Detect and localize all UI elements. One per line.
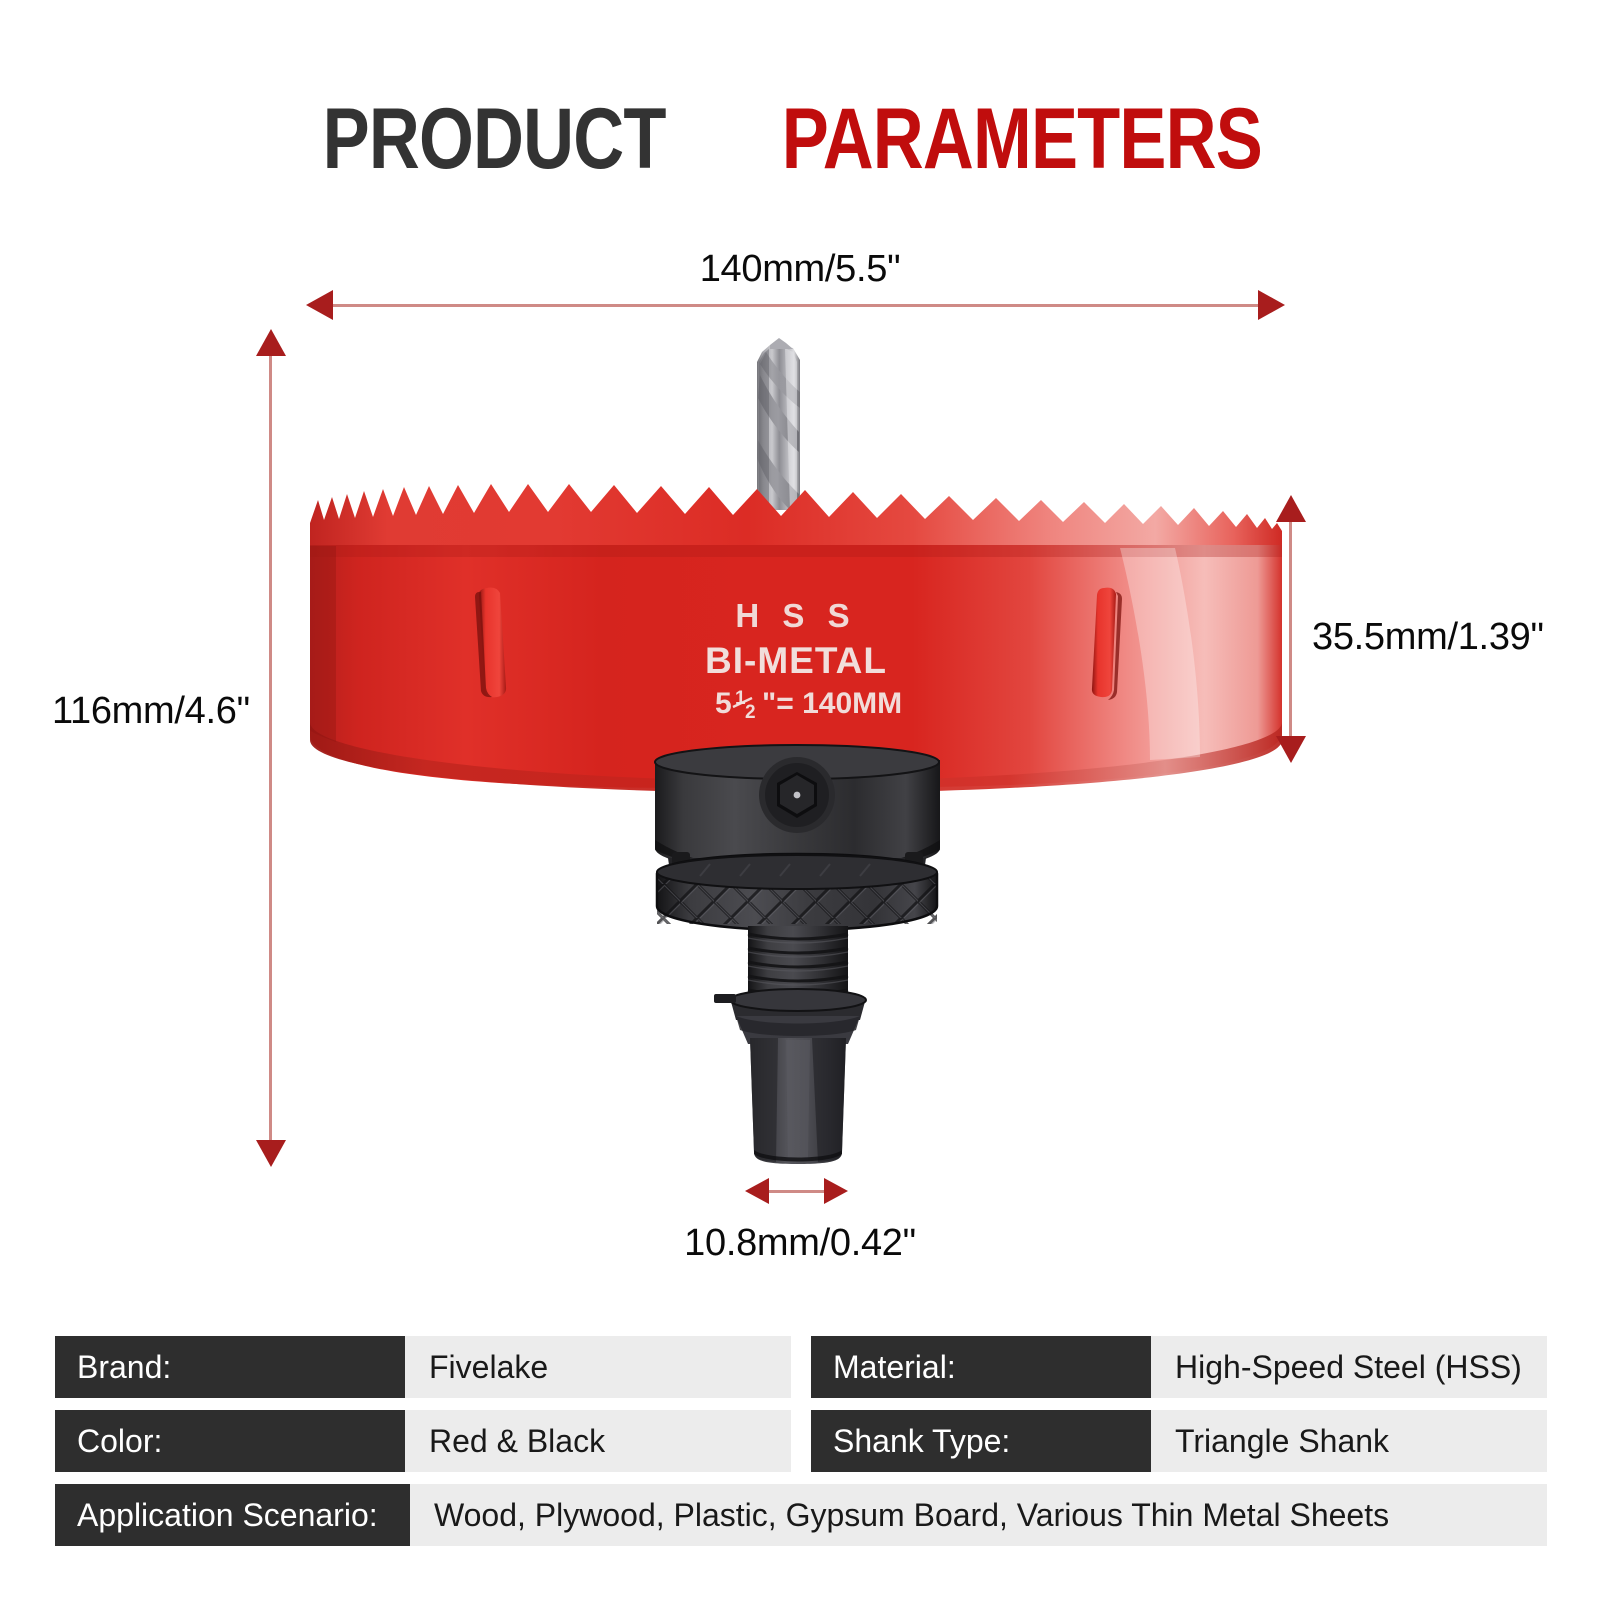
dimension-line-width [333,304,1263,307]
spec-value-color: Red & Black [405,1410,791,1472]
spec-value-material: High-Speed Steel (HSS) [1151,1336,1547,1398]
spec-value-brand: Fivelake [405,1336,791,1398]
svg-text:5: 5 [715,687,732,720]
arrow-width-left [306,290,333,320]
specification-table: Brand: Fivelake Material: High-Speed Ste… [55,1336,1547,1558]
engraving-line-hss: H S S [735,597,856,634]
dimension-line-shank [768,1190,826,1193]
arrow-height-bottom [256,1140,286,1167]
arrow-height-top [256,329,286,356]
spec-cell-brand: Brand: Fivelake [55,1336,791,1398]
knurled-collar[interactable] [657,854,937,930]
spec-cell-color: Color: Red & Black [55,1410,791,1472]
table-row: Brand: Fivelake Material: High-Speed Ste… [55,1336,1547,1398]
dimension-label-shank: 10.8mm/0.42" [0,1222,1600,1265]
spec-value-application-scenario: Wood, Plywood, Plastic, Gypsum Board, Va… [410,1484,1547,1546]
arrow-depth-bottom [1276,736,1306,763]
product-parameters-page: PRODUCTPARAMETERS [0,0,1600,1600]
spec-key-shank-type: Shank Type: [811,1410,1151,1472]
dimension-line-depth [1289,522,1292,738]
triangle-shank [750,1038,846,1164]
dimension-label-width: 140mm/5.5" [0,248,1600,291]
dimension-line-height [269,356,272,1142]
table-row: Application Scenario: Wood, Plywood, Pla… [55,1484,1547,1546]
spec-value-shank-type: Triangle Shank [1151,1410,1547,1472]
arrow-width-right [1258,290,1285,320]
table-row: Color: Red & Black Shank Type: Triangle … [55,1410,1547,1472]
dimension-label-height: 116mm/4.6" [52,690,250,733]
engraving-line-bimetal: BI-METAL [705,640,887,681]
arrow-shank-right [824,1178,848,1204]
spec-key-application-scenario: Application Scenario: [55,1484,410,1546]
spec-cell-shank-type: Shank Type: Triangle Shank [811,1410,1547,1472]
spec-key-color: Color: [55,1410,405,1472]
dimension-label-depth: 35.5mm/1.39" [1312,616,1544,659]
svg-text:2: 2 [745,702,756,723]
arrow-shank-left [745,1178,769,1204]
stop-collar [714,989,866,1044]
spec-key-brand: Brand: [55,1336,405,1398]
arrow-depth-top [1276,495,1306,522]
pilot-drill-bit [757,338,800,510]
column-divider [791,1410,811,1472]
column-divider [791,1336,811,1398]
spec-key-material: Material: [811,1336,1151,1398]
svg-text:"= 140MM: "= 140MM [762,687,902,720]
spec-cell-material: Material: High-Speed Steel (HSS) [811,1336,1547,1398]
